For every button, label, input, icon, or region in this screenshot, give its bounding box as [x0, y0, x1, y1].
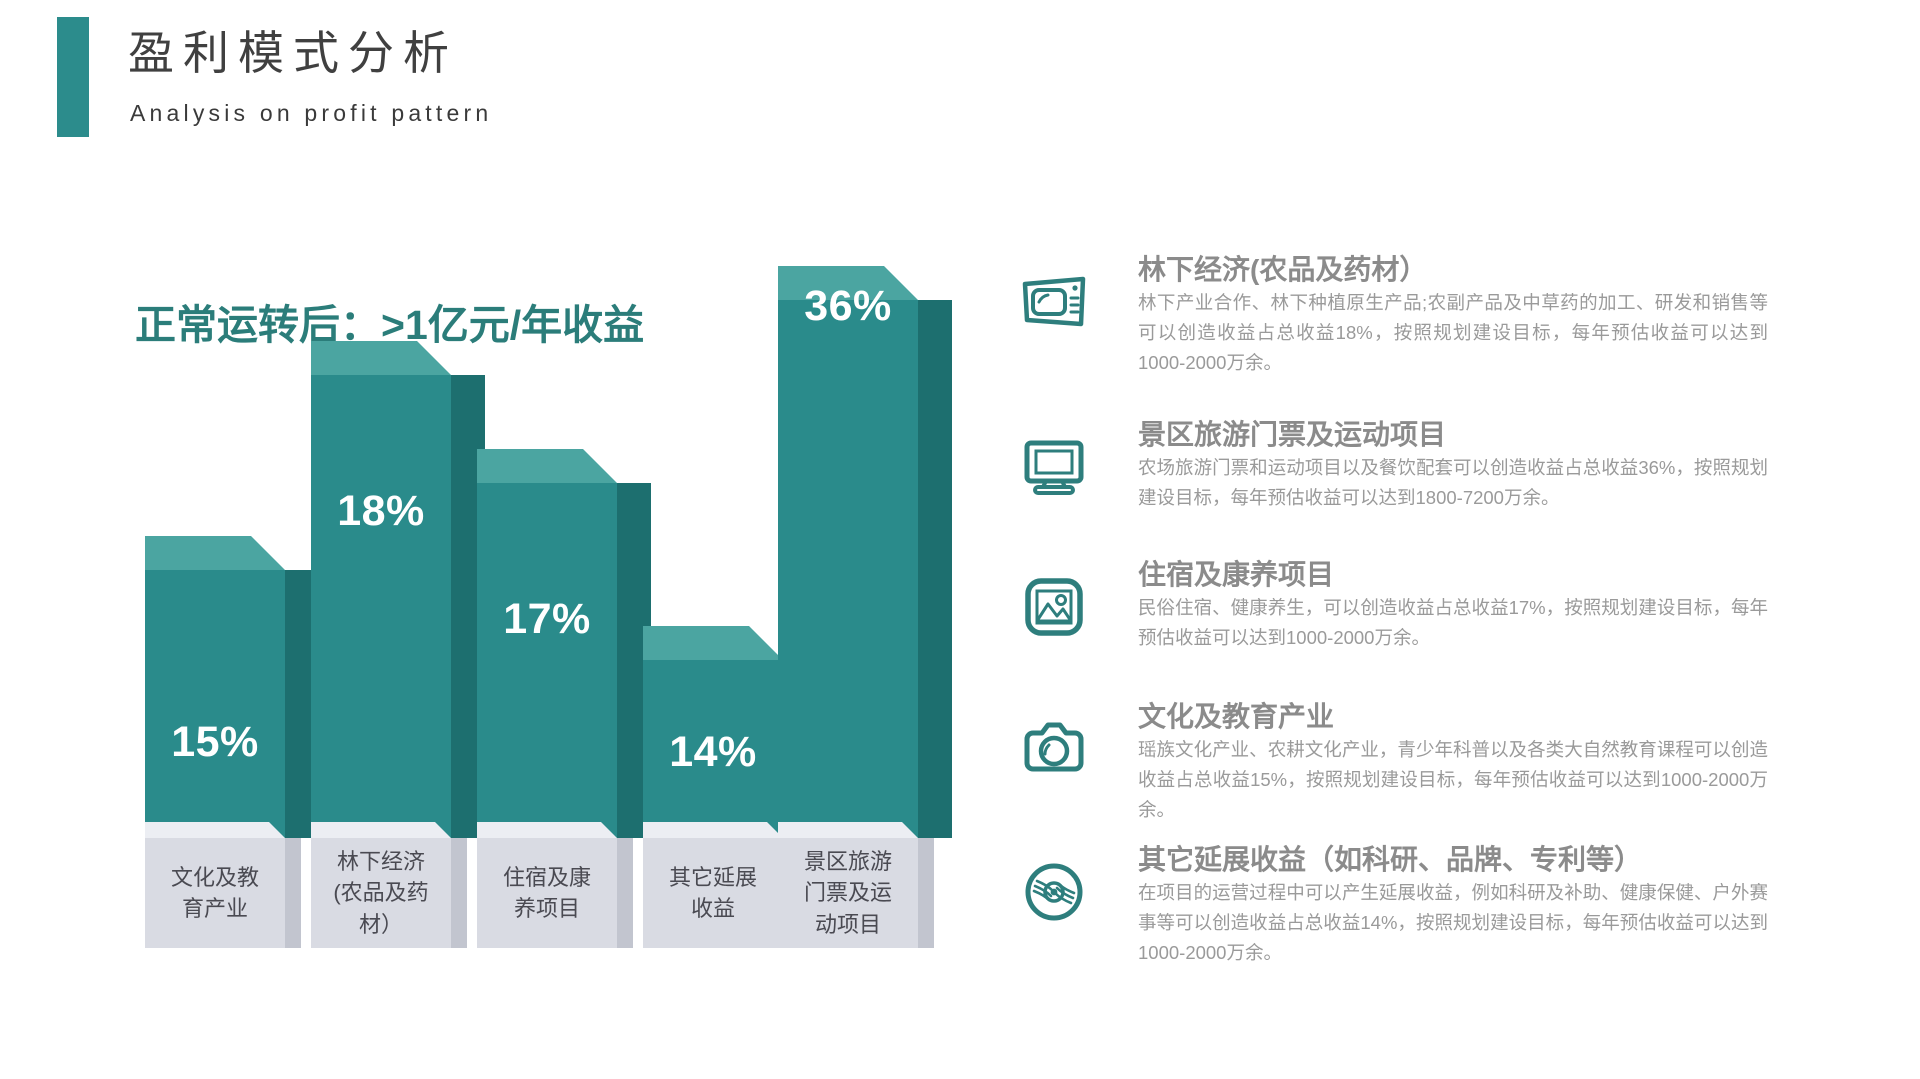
- slide-canvas: 盈利模式分析 Analysis on profit pattern 正常运转后：…: [0, 0, 1920, 1079]
- pedestal-1-side-face: [285, 838, 301, 948]
- pedestal-2-side-face: [451, 838, 467, 948]
- bar-4-category-label: 其它延展 收益: [663, 862, 763, 924]
- list-item-description: 在项目的运营过程中可以产生延展收益，例如科研及补助、健康保健、户外赛事等可以创造…: [1138, 878, 1768, 968]
- pedestal-2-top-face: [311, 822, 451, 838]
- list-item-description: 农场旅游门票和运动项目以及餐饮配套可以创造收益占总收益36%，按照规划建设目标，…: [1138, 453, 1768, 513]
- bar-1: 15%: [145, 570, 285, 838]
- list-item-description: 瑶族文化产业、农耕文化产业，青少年科普以及各类大自然教育课程可以创造收益占总收益…: [1138, 735, 1768, 825]
- camera-icon: [1018, 713, 1090, 785]
- bar-3-value-label: 17%: [477, 595, 617, 644]
- pedestal-4-front-face: 其它延展 收益: [643, 838, 783, 948]
- bar-1-category-pedestal: 文化及教 育产业: [145, 838, 285, 948]
- bar-2-value-label: 18%: [311, 487, 451, 536]
- list-item-title: 住宿及康养项目: [1138, 553, 1334, 593]
- bar-3: 17%: [477, 483, 617, 838]
- bar-4-value-label: 14%: [643, 728, 783, 777]
- list-item-description: 林下产业合作、林下种植原生产品;农副产品及中草药的加工、研发和销售等可以创造收益…: [1138, 288, 1768, 378]
- pedestal-3-top-face: [477, 822, 617, 838]
- pedestal-4-top-face: [643, 822, 783, 838]
- bar-2: 18%: [311, 375, 451, 838]
- bar-5-front-face: [778, 300, 918, 838]
- bar-3-category-label: 住宿及康 养项目: [497, 862, 597, 924]
- bar-4-category-pedestal: 其它延展 收益: [643, 838, 783, 948]
- bar-5-side-face: [918, 300, 952, 838]
- pedestal-2-front-face: 林下经济 (农品及药 材）: [311, 838, 451, 948]
- bar-3-front-face: [477, 483, 617, 838]
- bar-1-value-label: 15%: [145, 718, 285, 767]
- bar-3-category-pedestal: 住宿及康 养项目: [477, 838, 617, 948]
- bar-2-category-pedestal: 林下经济 (农品及药 材）: [311, 838, 451, 948]
- profit-source-list: 林下经济(农品及药材） 林下产业合作、林下种植原生产品;农副产品及中草药的加工、…: [1000, 0, 1920, 1079]
- bar-4-top-face: [643, 626, 783, 660]
- bar-5: 36%: [778, 300, 918, 838]
- bar-2-category-label: 林下经济 (农品及药 材）: [327, 846, 434, 940]
- list-item-title: 林下经济(农品及药材）: [1138, 248, 1427, 288]
- pedestal-5-side-face: [918, 838, 934, 948]
- pedestal-5-top-face: [778, 822, 918, 838]
- bar-group: 15% 18% 17% 14%: [0, 0, 1000, 1079]
- list-item-title: 景区旅游门票及运动项目: [1138, 413, 1446, 453]
- retro-tv-icon: [1018, 266, 1090, 338]
- bar-1-category-label: 文化及教 育产业: [165, 862, 265, 924]
- pedestal-1-top-face: [145, 822, 285, 838]
- bar-3-top-face: [477, 449, 617, 483]
- pedestal-5-front-face: 景区旅游 门票及运 动项目: [778, 838, 918, 948]
- list-item-title: 文化及教育产业: [1138, 695, 1334, 735]
- monitor-icon: [1018, 431, 1090, 503]
- bar-1-front-face: [145, 570, 285, 838]
- bar-4: 14%: [643, 660, 783, 838]
- bar-1-top-face: [145, 536, 285, 570]
- bar-5-category-label: 景区旅游 门票及运 动项目: [798, 846, 898, 940]
- bar-5-category-pedestal: 景区旅游 门票及运 动项目: [778, 838, 918, 948]
- bar-2-top-face: [311, 341, 451, 375]
- disc-icon: [1018, 856, 1090, 928]
- bar-chart: 正常运转后：>1亿元/年收益 15% 18% 17%: [0, 0, 1000, 1079]
- list-item-title: 其它延展收益（如科研、品牌、专利等）: [1138, 838, 1642, 878]
- pedestal-3-front-face: 住宿及康 养项目: [477, 838, 617, 948]
- bar-5-value-label: 36%: [778, 282, 918, 331]
- list-item-description: 民俗住宿、健康养生，可以创造收益占总收益17%，按照规划建设目标，每年预估收益可…: [1138, 593, 1768, 653]
- pedestal-3-side-face: [617, 838, 633, 948]
- bar-2-front-face: [311, 375, 451, 838]
- image-icon: [1018, 571, 1090, 643]
- pedestal-1-front-face: 文化及教 育产业: [145, 838, 285, 948]
